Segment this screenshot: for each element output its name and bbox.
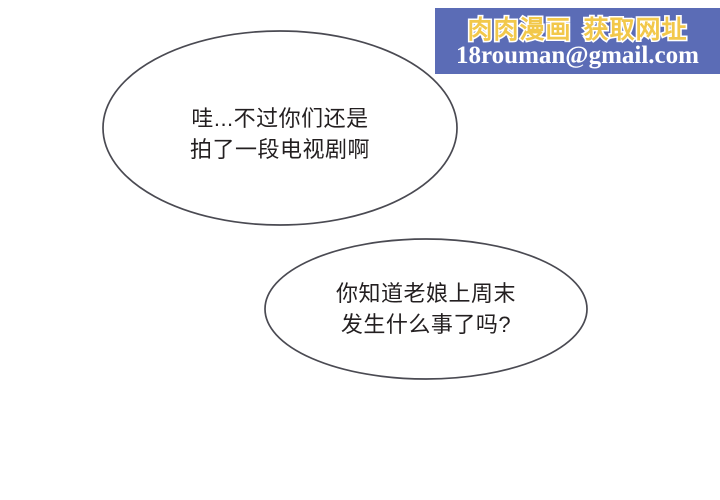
watermark-email: 18rouman@gmail.com	[435, 42, 720, 70]
watermark-banner: 肉肉漫画获取网址 18rouman@gmail.com	[435, 8, 720, 74]
speech-bubble-1-line-1: 哇...不过你们还是	[104, 103, 456, 134]
speech-bubble-1-text: 哇...不过你们还是 拍了一段电视剧啊	[104, 103, 456, 165]
watermark-title-action: 获取网址	[584, 15, 688, 44]
speech-bubble-layer	[0, 0, 720, 500]
speech-bubble-2-line-2: 发生什么事了吗?	[266, 309, 586, 340]
watermark-title-brand: 肉肉漫画	[467, 15, 571, 44]
watermark-title: 肉肉漫画获取网址	[435, 10, 720, 46]
speech-bubble-2-text: 你知道老娘上周末 发生什么事了吗?	[266, 278, 586, 340]
speech-bubble-1-line-2: 拍了一段电视剧啊	[104, 134, 456, 165]
speech-bubble-2-line-1: 你知道老娘上周末	[266, 278, 586, 309]
comic-panel: 哇...不过你们还是 拍了一段电视剧啊 你知道老娘上周末 发生什么事了吗? 肉肉…	[0, 0, 720, 500]
